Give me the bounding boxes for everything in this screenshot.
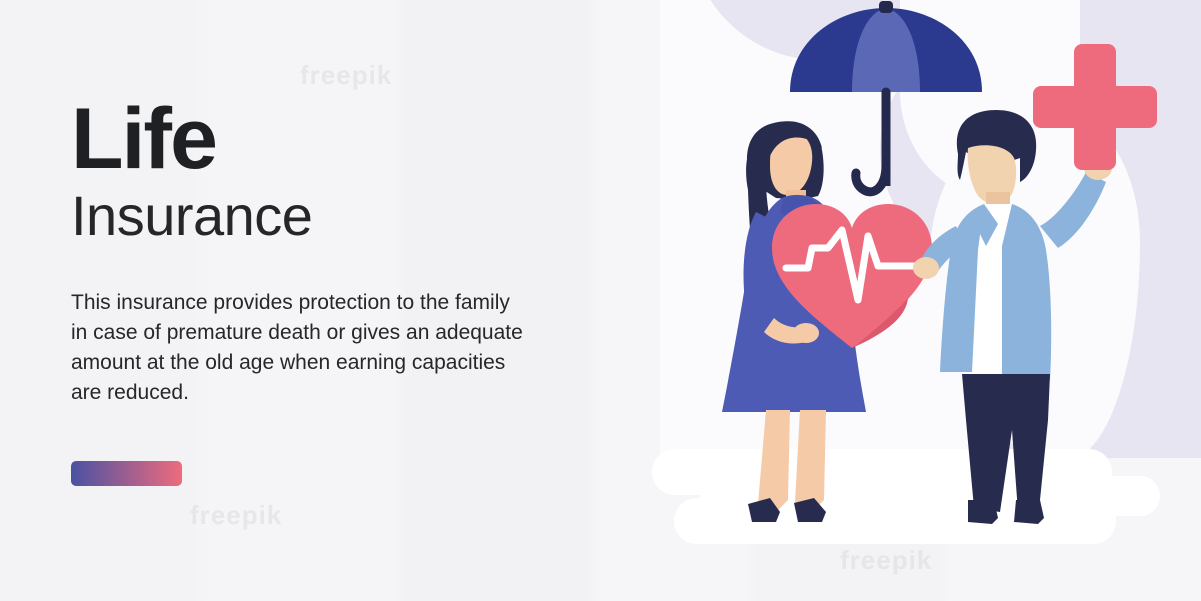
page-title-secondary: Insurance xyxy=(71,187,541,246)
watermark-text: freepik xyxy=(840,545,932,576)
ground-pill-bottom xyxy=(674,498,1116,544)
accent-divider-bar xyxy=(71,461,182,486)
watermark-text: freepik xyxy=(190,500,282,531)
life-insurance-banner: Life Insurance This insurance provides p… xyxy=(0,0,1201,601)
body-paragraph: This insurance provides protection to th… xyxy=(71,288,523,407)
text-column: Life Insurance This insurance provides p… xyxy=(71,98,541,407)
page-title-primary: Life xyxy=(71,98,541,181)
watermark-text: freepik xyxy=(300,60,392,91)
